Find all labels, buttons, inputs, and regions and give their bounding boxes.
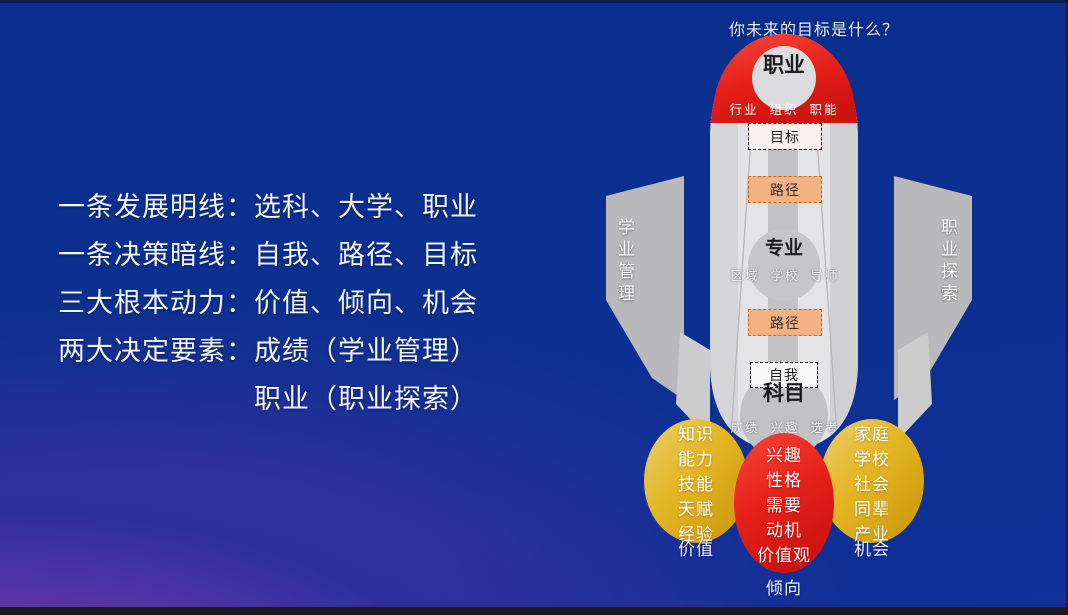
career-sub-terms: 行业 组织 职能: [718, 99, 850, 118]
opportunity-word-2: 学校: [837, 447, 907, 472]
left-fin-label: 学业管理: [612, 218, 637, 306]
opportunity-word-3: 社会: [837, 472, 907, 497]
major-sub-terms: 区域 学校 导师: [715, 265, 855, 284]
ellipse-value-words: 知识 能力 技能 天赋 经验: [661, 422, 731, 547]
inclination-word-4: 动机: [745, 518, 823, 543]
right-fin-label: 职业探索: [935, 218, 960, 306]
bottom-edge-bar: [0, 607, 1068, 615]
subject-circle-label: 科目: [744, 382, 824, 406]
inclination-word-1: 兴趣: [745, 443, 823, 468]
opportunity-word-4: 同辈: [837, 497, 907, 522]
chip-path-upper[interactable]: 路径: [748, 176, 822, 203]
key-point-line-2: 一条决策暗线：自我、路径、目标: [58, 231, 528, 279]
chip-path-lower[interactable]: 路径: [748, 309, 822, 336]
key-point-line-4: 两大决定要素：成绩（学业管理）: [58, 327, 528, 375]
key-point-line-1: 一条发展明线：选科、大学、职业: [58, 183, 528, 231]
chip-goal[interactable]: 目标: [748, 123, 822, 150]
key-point-line-3: 三大根本动力：价值、倾向、机会: [58, 279, 528, 327]
ellipse-inclination-words: 兴趣 性格 需要 动机 价值观: [745, 443, 823, 568]
ellipse-value-caption: 价值: [661, 535, 731, 560]
ellipse-opportunity-words: 家庭 学校 社会 同辈 产业: [837, 422, 907, 547]
slide-canvas: 一条发展明线：选科、大学、职业 一条决策暗线：自我、路径、目标 三大根本动力：价…: [0, 0, 1068, 615]
inclination-word-5: 价值观: [745, 543, 823, 568]
rocket-diagram: 你未来的目标是什么？: [560, 0, 1068, 615]
major-circle-label: 专业: [744, 238, 824, 260]
subject-sub-terms: 成绩 兴趣 选考: [715, 417, 855, 436]
ellipse-inclination-caption: 倾向: [745, 574, 823, 599]
career-circle-label: 职业: [744, 54, 824, 78]
value-word-2: 能力: [661, 447, 731, 472]
value-word-1: 知识: [661, 422, 731, 447]
inclination-word-3: 需要: [745, 493, 823, 518]
value-word-3: 技能: [661, 472, 731, 497]
inclination-word-2: 性格: [745, 468, 823, 493]
key-points-text-block: 一条发展明线：选科、大学、职业 一条决策暗线：自我、路径、目标 三大根本动力：价…: [58, 183, 528, 423]
opportunity-word-1: 家庭: [837, 422, 907, 447]
value-word-4: 天赋: [661, 497, 731, 522]
key-point-line-5: 职业（职业探索）: [58, 375, 528, 423]
ellipse-opportunity-caption: 机会: [837, 535, 907, 560]
